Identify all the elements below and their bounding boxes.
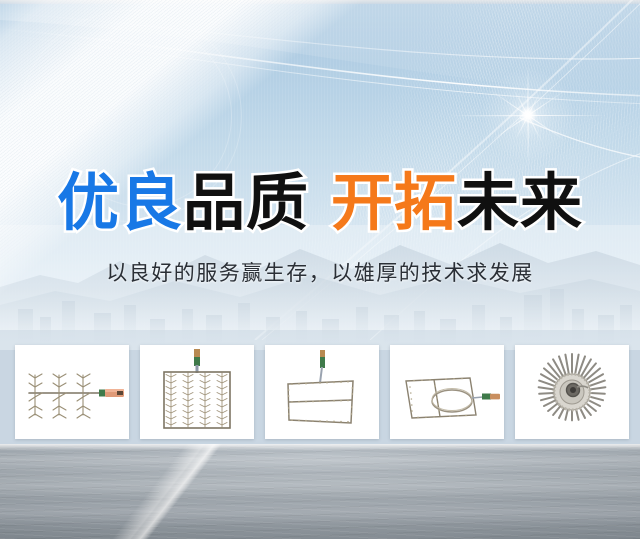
product-image-flat-divider-frame: [265, 345, 379, 439]
headline-segment-black-2: 未来: [457, 166, 583, 239]
ground-top-highlight: [0, 444, 640, 451]
subtitle: 以良好的服务赢生存，以雄厚的技术求发展: [0, 258, 640, 288]
product-card-comb-rack-with-handle[interactable]: [15, 345, 129, 439]
product-image-comb-rack-with-handle: [15, 345, 129, 439]
promo-banner: 优良品质开拓未来 以良好的服务赢生存，以雄厚的技术求发展: [0, 0, 640, 539]
headline-segment-blue: 优良: [57, 166, 183, 239]
headline-segment-black-1: 品质: [183, 166, 309, 239]
product-card-flat-divider-frame[interactable]: [265, 345, 379, 439]
product-card-multi-rail-hook-rack[interactable]: [140, 345, 254, 439]
headline: 优良品质开拓未来: [0, 168, 640, 238]
product-image-multi-rail-hook-rack: [140, 345, 254, 439]
product-card-radial-spoke-wheel[interactable]: [515, 345, 629, 439]
ground-surface: [0, 444, 640, 539]
product-card-row: [15, 345, 629, 441]
product-image-radial-spoke-wheel: [515, 345, 629, 439]
ground-vignette: [0, 444, 640, 539]
product-image-square-frame-with-ring: [390, 345, 504, 439]
headline-segment-orange: 开拓: [331, 166, 457, 239]
product-card-square-frame-with-ring[interactable]: [390, 345, 504, 439]
